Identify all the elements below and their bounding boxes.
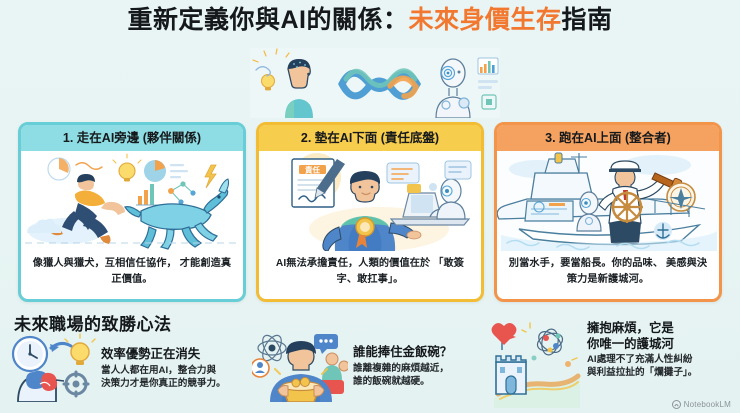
card-partner[interactable]: 1. 走在AI旁邊 (夥伴關係)	[18, 122, 246, 302]
notebooklm-logo-icon	[672, 400, 681, 409]
page-title-tail: 指南	[562, 6, 613, 34]
card-2-header: 2. 墊在AI下面 (責任底盤)	[259, 125, 481, 151]
footer-brand-label: NotebookLM	[684, 400, 731, 409]
winning-mindset-tips: 效率優勢正在消失 當人人都在用AI，整合力與 決策力才是你真正的競爭力。	[0, 318, 740, 410]
card-3-illustration	[497, 151, 719, 251]
card-3-body: 別當水手，要當船長。你的品味、 美感與決策力是新護城河。	[497, 251, 719, 288]
tip-1-desc: 當人人都在用AI，整合力與 決策力才是你真正的競爭力。	[101, 364, 226, 391]
tip-1-title: 效率優勢正在消失	[101, 347, 226, 363]
page-title: 重新定義你與AI的關係：未來身價生存指南	[0, 8, 740, 33]
card-1-header: 1. 走在AI旁邊 (夥伴關係)	[21, 125, 243, 151]
anchor-icon	[654, 222, 672, 240]
card-1-body: 像獵人與獵犬，互相信任協作， 才能創造真正價值。	[21, 251, 243, 288]
card-1-illustration	[21, 151, 243, 251]
clock-brain-lightbulb-icon	[4, 332, 96, 402]
card-integrator[interactable]: 3. 跑在AI上面 (整合者)	[494, 122, 722, 302]
page-title-main: 重新定義你與AI的關係：	[127, 6, 408, 34]
page-title-accent: 未來身價生存	[408, 6, 561, 34]
hero-illustration	[250, 48, 500, 118]
tip-2-desc: 誰離複雜的麻煩越近， 誰的飯碗就越硬。	[353, 362, 452, 389]
tip-golden-bowl: 誰能捧住金飯碗？ 誰離複雜的麻煩越近， 誰的飯碗就越硬。	[252, 330, 452, 402]
card-2-body: AI無法承擔責任，人類的價值在於 「敢簽字、敢扛事」。	[259, 251, 481, 288]
infographic-page: 重新定義你與AI的關係：未來身價生存指南	[0, 0, 740, 413]
person-holding-gold-ingot-icon	[252, 330, 348, 402]
document-label: 責任	[305, 164, 320, 174]
card-responsibility[interactable]: 2. 墊在AI下面 (責任底盤) 責任	[256, 122, 484, 302]
card-2-illustration: 責任	[259, 151, 481, 251]
tip-efficiency: 效率優勢正在消失 當人人都在用AI，整合力與 決策力才是你真正的競爭力。	[4, 332, 226, 402]
castle-moat-icon	[488, 320, 582, 408]
tip-3-desc: AI處理不了充滿人性糾紛 與利益拉扯的「爛攤子」。	[587, 353, 697, 380]
tip-2-title: 誰能捧住金飯碗？	[353, 345, 452, 361]
card-3-header: 3. 跑在AI上面 (整合者)	[497, 125, 719, 151]
tip-moat: 擁抱麻煩，它是 你唯一的護城河 AI處理不了充滿人性糾紛 與利益拉扯的「爛攤子」…	[488, 320, 697, 408]
footer-watermark: NotebookLM	[672, 400, 731, 409]
strategy-cards: 1. 走在AI旁邊 (夥伴關係)	[0, 122, 740, 302]
tip-3-title: 擁抱麻煩，它是 你唯一的護城河	[587, 321, 697, 352]
